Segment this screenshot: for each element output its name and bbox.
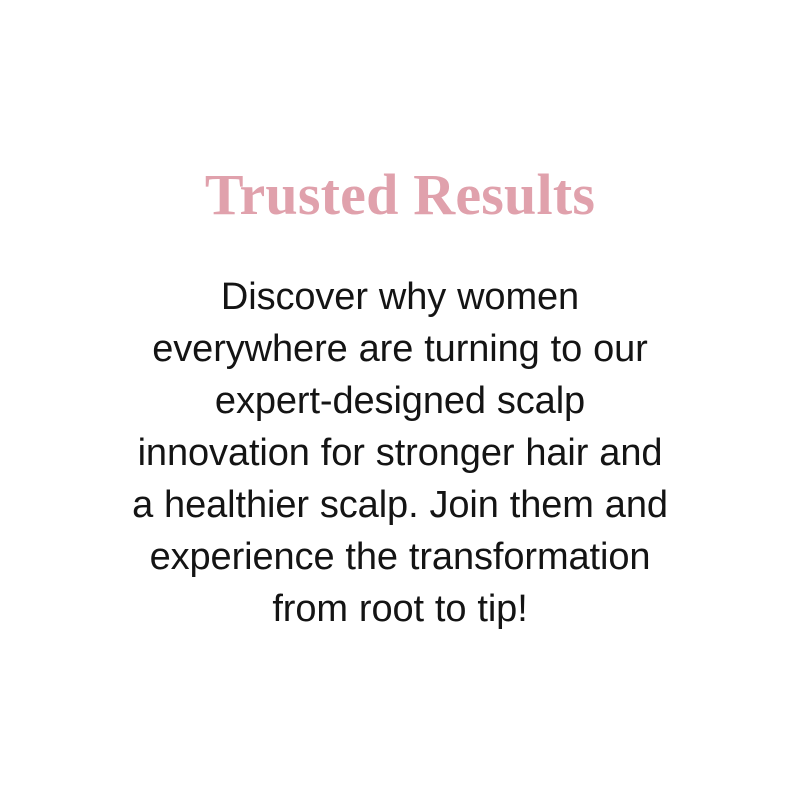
page-title: Trusted Results xyxy=(50,166,750,224)
promo-card: Trusted Results Discover why women every… xyxy=(0,0,800,800)
body-paragraph: Discover why women everywhere are turnin… xyxy=(128,271,673,635)
